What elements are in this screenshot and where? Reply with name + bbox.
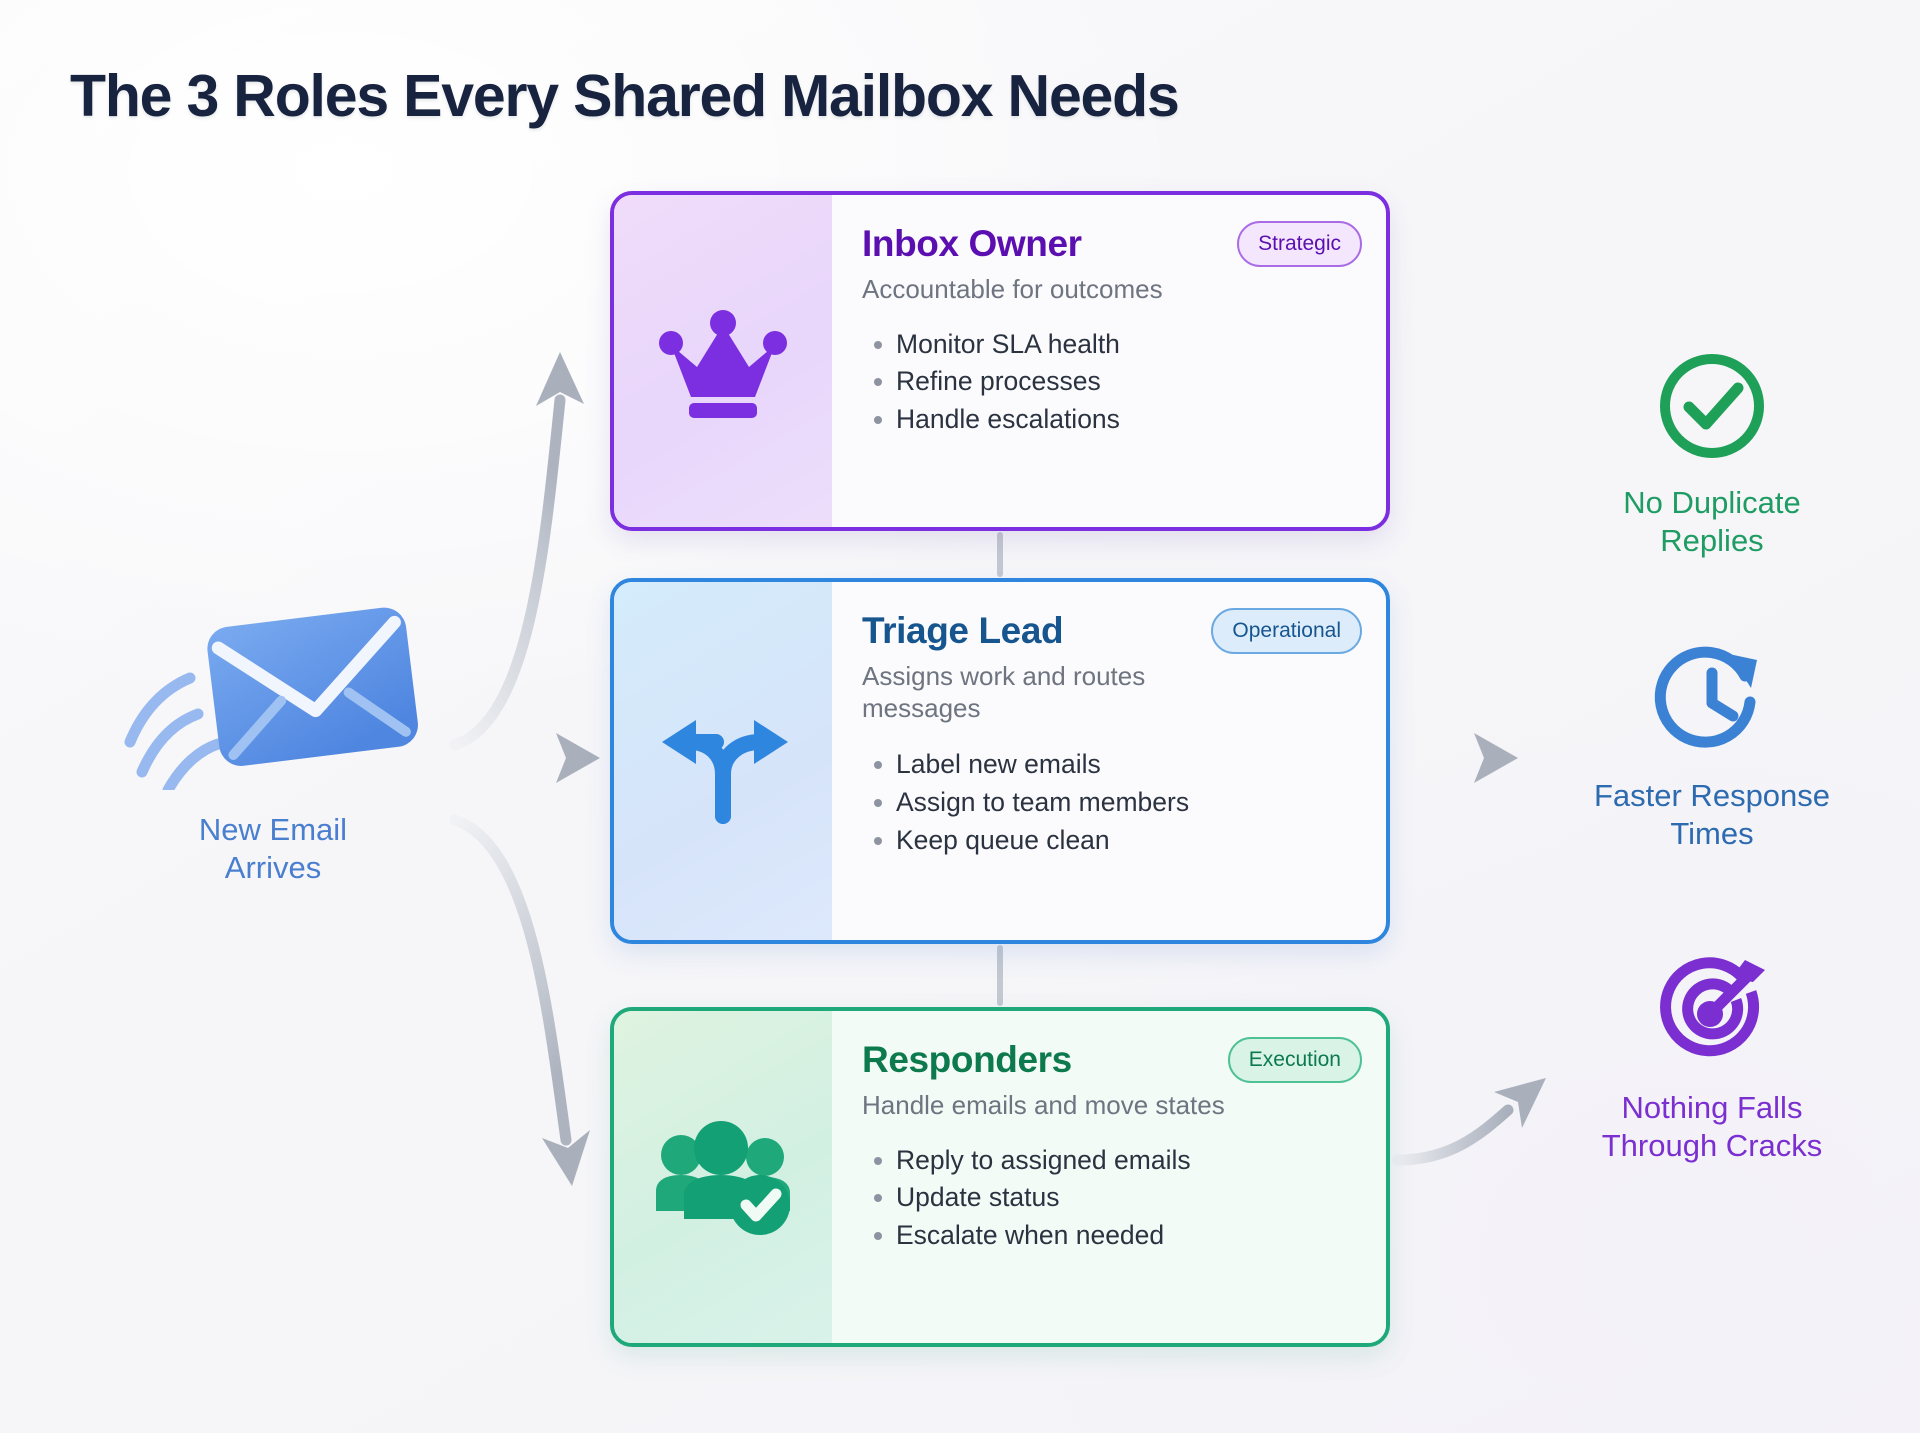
role-subtitle: Accountable for outcomes xyxy=(862,274,1262,306)
outcome-label-line2: Times xyxy=(1670,816,1753,851)
role-bullet: Reply to assigned emails xyxy=(862,1142,1352,1180)
outcome-label-line1: No Duplicate xyxy=(1623,485,1800,520)
role-badge-strategic: Strategic xyxy=(1237,221,1362,267)
role-bullet: Assign to team members xyxy=(862,784,1352,822)
role-bullet-list: Reply to assigned emails Update status E… xyxy=(862,1142,1352,1255)
outcome-label-line2: Through Cracks xyxy=(1602,1128,1823,1163)
source-label-line1: New Email xyxy=(199,812,347,847)
outcome-label-line2: Replies xyxy=(1660,523,1763,558)
role-bullet: Refine processes xyxy=(862,363,1352,401)
outcome-label: No Duplicate Replies xyxy=(1532,484,1892,561)
outcome-label-line1: Faster Response xyxy=(1594,778,1830,813)
role-card-inbox-owner[interactable]: Inbox Owner Accountable for outcomes Mon… xyxy=(610,191,1390,531)
role-icon-pane xyxy=(614,582,832,940)
role-card-body: Triage Lead Assigns work and routes mess… xyxy=(832,582,1386,940)
outcome-label-line1: Nothing Falls xyxy=(1622,1090,1803,1125)
source-node-new-email: New Email Arrives xyxy=(108,590,438,887)
role-bullet: Monitor SLA health xyxy=(862,326,1352,364)
outcome-label: Faster Response Times xyxy=(1532,777,1892,854)
role-bullet-list: Monitor SLA health Refine processes Hand… xyxy=(862,326,1352,439)
role-bullet: Update status xyxy=(862,1179,1352,1217)
role-card-triage-lead[interactable]: Triage Lead Assigns work and routes mess… xyxy=(610,578,1390,944)
arrow-source-to-triage xyxy=(448,733,600,783)
arrow-source-to-responders xyxy=(455,820,590,1186)
source-label-line2: Arrives xyxy=(225,850,321,885)
envelope-icon xyxy=(108,590,438,790)
role-bullet: Handle escalations xyxy=(862,401,1352,439)
role-subtitle: Handle emails and move states xyxy=(862,1090,1262,1122)
role-subtitle: Assigns work and routes messages xyxy=(862,661,1262,724)
outcome-nothing-falls-through-cracks: Nothing Falls Through Cracks xyxy=(1532,952,1892,1166)
clock-rotate-icon xyxy=(1653,640,1771,758)
role-card-body: Inbox Owner Accountable for outcomes Mon… xyxy=(832,195,1386,527)
split-arrows-icon xyxy=(648,696,798,826)
role-bullet: Escalate when needed xyxy=(862,1217,1352,1255)
arrow-triage-to-outcome xyxy=(1398,733,1518,783)
role-badge-operational: Operational xyxy=(1211,608,1362,654)
source-label: New Email Arrives xyxy=(108,811,438,887)
role-badge-execution: Execution xyxy=(1228,1037,1362,1083)
crown-icon xyxy=(653,301,793,421)
outcome-faster-response-times: Faster Response Times xyxy=(1532,640,1892,854)
role-bullet-list: Label new emails Assign to team members … xyxy=(862,746,1352,859)
outcome-no-duplicate-replies: No Duplicate Replies xyxy=(1532,347,1892,561)
page-title: The 3 Roles Every Shared Mailbox Needs xyxy=(70,62,1179,130)
role-card-responders[interactable]: Responders Handle emails and move states… xyxy=(610,1007,1390,1347)
role-bullet: Keep queue clean xyxy=(862,822,1352,860)
role-card-body: Responders Handle emails and move states… xyxy=(832,1011,1386,1343)
role-icon-pane xyxy=(614,1011,832,1343)
arrow-source-to-owner xyxy=(455,352,584,745)
check-circle-icon xyxy=(1653,347,1771,465)
arrow-responders-to-outcome xyxy=(1398,1078,1546,1160)
role-bullet: Label new emails xyxy=(862,746,1352,784)
outcome-label: Nothing Falls Through Cracks xyxy=(1532,1089,1892,1166)
role-icon-pane xyxy=(614,195,832,527)
people-check-icon xyxy=(648,1115,798,1240)
target-arrow-icon xyxy=(1653,952,1771,1070)
infographic-canvas: The 3 Roles Every Shared Mailbox Needs xyxy=(0,0,1920,1433)
